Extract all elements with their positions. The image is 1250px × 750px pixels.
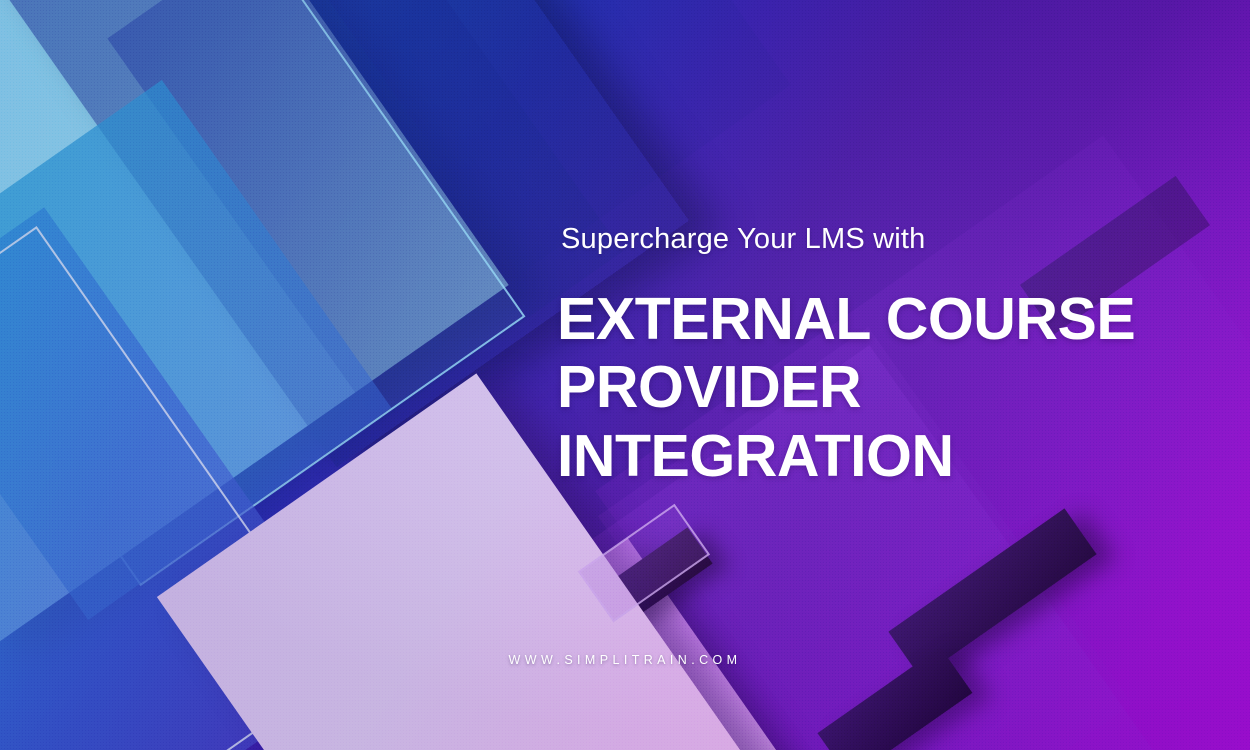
headline-line-2: PROVIDER bbox=[557, 353, 1217, 421]
headline-line-3: INTEGRATION bbox=[557, 422, 1217, 490]
footer-website-url[interactable]: WWW.SIMPLITRAIN.COM bbox=[0, 653, 1250, 667]
promo-banner: Supercharge Your LMS with EXTERNAL COURS… bbox=[0, 0, 1250, 750]
headline-line-1: EXTERNAL COURSE bbox=[557, 285, 1217, 353]
banner-text-block: Supercharge Your LMS with EXTERNAL COURS… bbox=[557, 222, 1217, 490]
banner-eyebrow: Supercharge Your LMS with bbox=[561, 222, 1217, 257]
banner-headline: EXTERNAL COURSE PROVIDER INTEGRATION bbox=[557, 285, 1217, 490]
